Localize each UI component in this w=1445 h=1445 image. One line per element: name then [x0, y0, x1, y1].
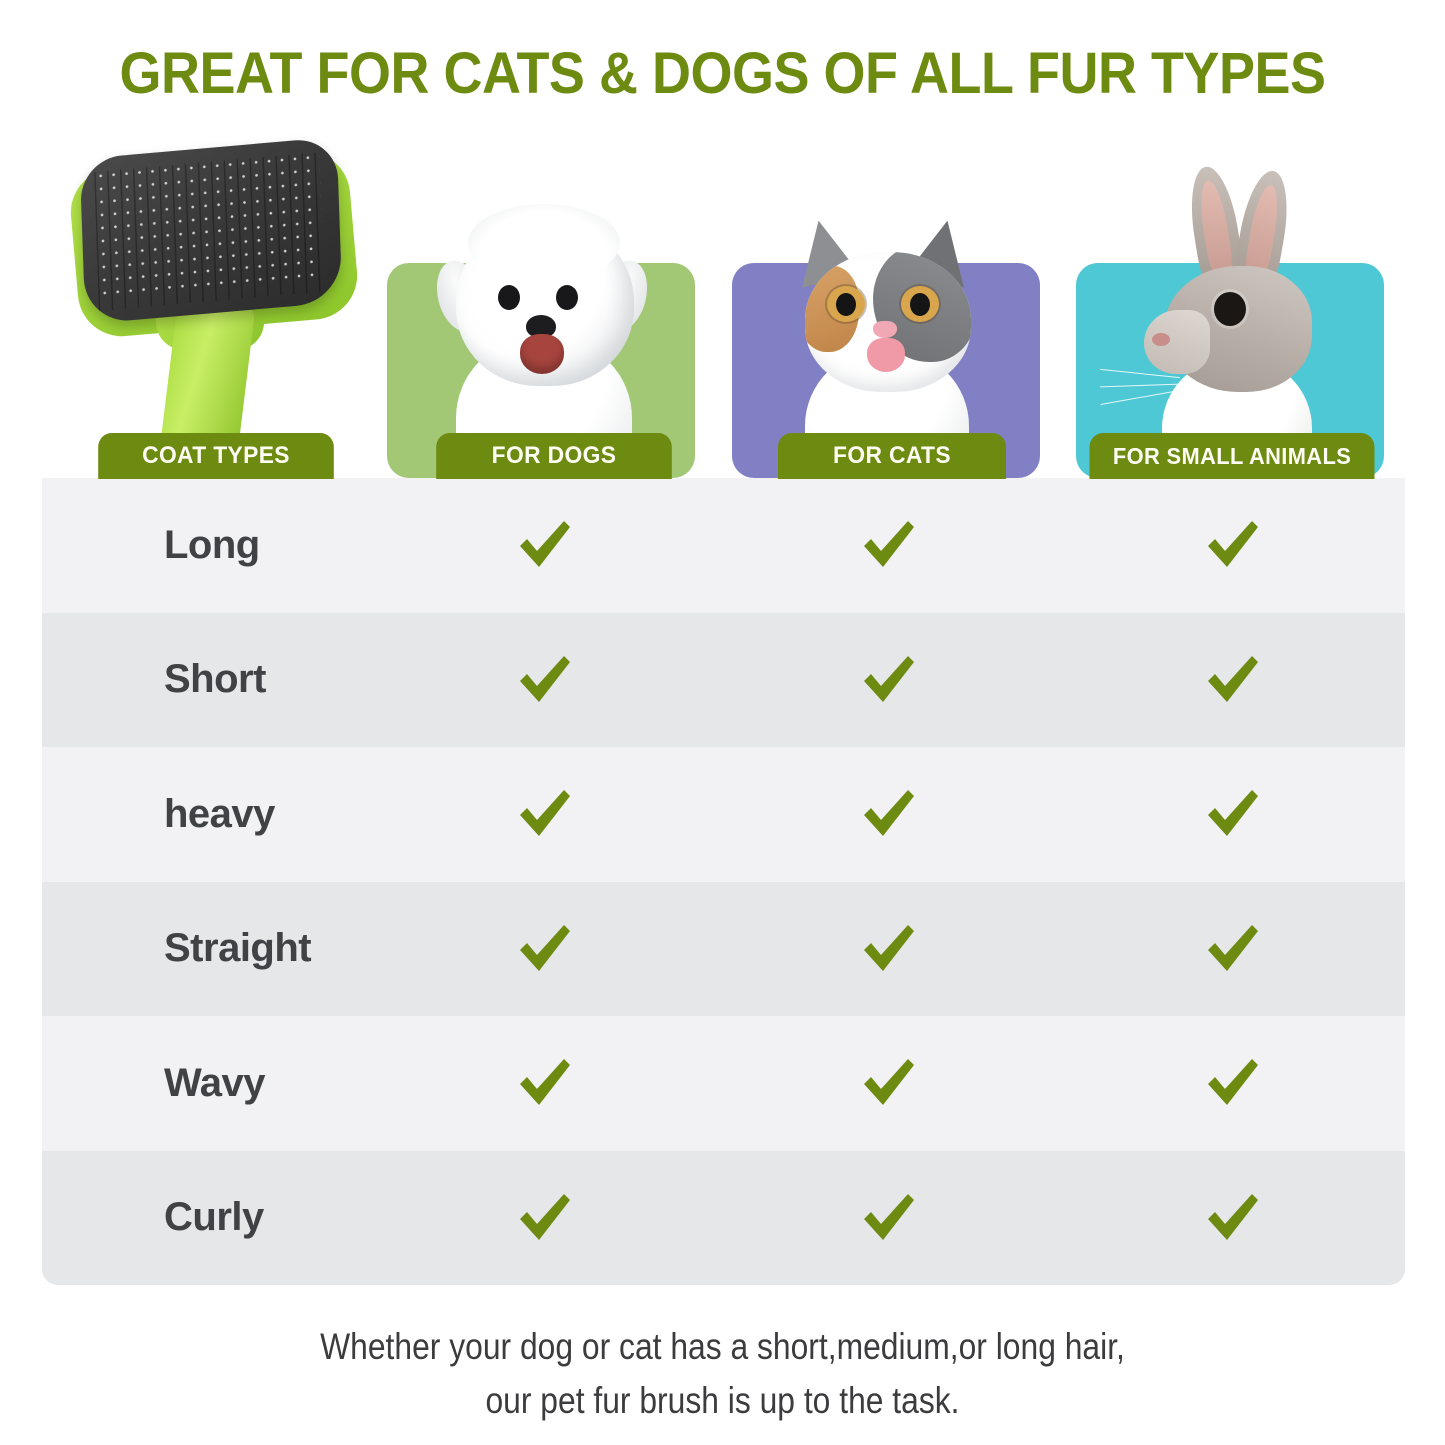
cell-small-animals — [1060, 917, 1404, 981]
check-icon — [1200, 782, 1264, 846]
row-label: Curly — [42, 1195, 372, 1240]
cell-dogs — [372, 782, 716, 846]
check-icon — [856, 1051, 920, 1115]
cat-pupil-right — [910, 293, 930, 316]
cell-dogs — [372, 1186, 716, 1250]
check-icon — [512, 1051, 576, 1115]
check-icon — [1200, 1186, 1264, 1250]
cell-small-animals — [1060, 1186, 1404, 1250]
header-coat-types: COAT TYPES — [98, 433, 334, 479]
check-icon — [856, 513, 920, 577]
table-row: Long — [42, 478, 1405, 613]
check-icon — [512, 917, 576, 981]
check-icon — [512, 1186, 576, 1250]
table-row: heavy — [42, 747, 1405, 882]
check-icon — [1200, 917, 1264, 981]
cell-cats — [716, 1186, 1060, 1250]
cell-small-animals — [1060, 782, 1404, 846]
cell-cats — [716, 917, 1060, 981]
caption-line-1: Whether your dog or cat has a short,medi… — [101, 1320, 1344, 1374]
cell-dogs — [372, 1051, 716, 1115]
cat-eye-right — [901, 286, 939, 322]
row-label: heavy — [42, 792, 372, 837]
cell-dogs — [372, 513, 716, 577]
check-icon — [512, 782, 576, 846]
check-icon — [1200, 648, 1264, 712]
cell-dogs — [372, 648, 716, 712]
brush-icon — [60, 130, 390, 480]
cat-mouth — [867, 338, 905, 372]
caption: Whether your dog or cat has a short,medi… — [101, 1320, 1344, 1428]
dog-eye-right — [556, 285, 578, 310]
rabbit-eye — [1214, 292, 1246, 326]
check-icon — [856, 782, 920, 846]
row-label: Wavy — [42, 1061, 372, 1106]
cat-nose — [873, 321, 897, 338]
table-row: Curly — [42, 1151, 1405, 1286]
table-row: Straight — [42, 882, 1405, 1017]
check-icon — [856, 1186, 920, 1250]
table-row: Wavy — [42, 1016, 1405, 1151]
check-icon — [1200, 513, 1264, 577]
cell-cats — [716, 513, 1060, 577]
cat-pupil-left — [836, 293, 856, 316]
cell-cats — [716, 782, 1060, 846]
media-strip — [0, 130, 1445, 480]
cell-small-animals — [1060, 1051, 1404, 1115]
cell-cats — [716, 1051, 1060, 1115]
cell-small-animals — [1060, 648, 1404, 712]
check-icon — [512, 648, 576, 712]
rabbit-nose — [1152, 333, 1170, 346]
brush-head — [80, 137, 343, 325]
cat-eye-left — [827, 286, 865, 322]
dog-topknot — [468, 204, 620, 282]
header-for-dogs: FOR DOGS — [436, 433, 672, 479]
check-icon — [856, 648, 920, 712]
check-icon — [1200, 1051, 1264, 1115]
cell-dogs — [372, 917, 716, 981]
brush-pin-dots — [94, 150, 324, 303]
dog-eye-left — [498, 285, 520, 310]
dog-mouth — [520, 334, 564, 374]
coat-type-table: Long Short heavy Straight Wavy Curly — [42, 478, 1405, 1285]
row-label: Short — [42, 657, 372, 702]
table-row: Short — [42, 613, 1405, 748]
rabbit-whisker-2 — [1100, 384, 1180, 388]
caption-line-2: our pet fur brush is up to the task. — [101, 1374, 1344, 1428]
check-icon — [856, 917, 920, 981]
header-for-small-animals: FOR SMALL ANIMALS — [1090, 433, 1375, 479]
check-icon — [512, 513, 576, 577]
cell-small-animals — [1060, 513, 1404, 577]
row-label: Long — [42, 523, 372, 568]
cell-cats — [716, 648, 1060, 712]
header-for-cats: FOR CATS — [778, 433, 1006, 479]
page-title: GREAT FOR CATS & DOGS OF ALL FUR TYPES — [51, 40, 1395, 107]
row-label: Straight — [42, 926, 372, 971]
